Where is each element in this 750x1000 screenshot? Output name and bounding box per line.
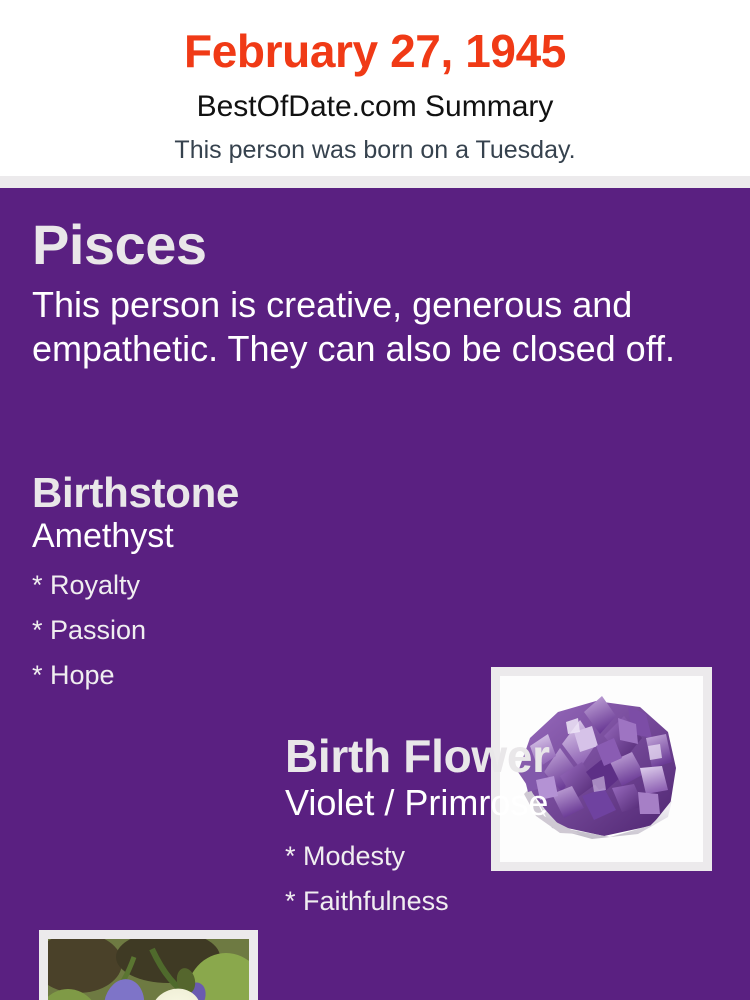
birthstone-section: Birthstone Amethyst * Royalty * Passion … bbox=[32, 471, 462, 698]
birthflower-photo-frame bbox=[39, 930, 258, 1000]
birthstone-heading: Birthstone bbox=[32, 471, 462, 515]
birthflower-trait-list: * Modesty * Faithfulness bbox=[285, 822, 725, 924]
header-divider bbox=[0, 176, 750, 188]
purple-content-panel: Pisces This person is creative, generous… bbox=[0, 188, 750, 1000]
birthflower-heading: Birth Flower bbox=[285, 733, 725, 781]
summary-page: February 27, 1945 BestOfDate.com Summary… bbox=[0, 0, 750, 1000]
page-title-date: February 27, 1945 bbox=[0, 0, 750, 74]
zodiac-sign-heading: Pisces bbox=[32, 216, 718, 273]
zodiac-section: Pisces This person is creative, generous… bbox=[32, 216, 718, 371]
site-name-subtitle: BestOfDate.com Summary bbox=[0, 74, 750, 122]
birthflower-name: Violet / Primrose bbox=[285, 781, 725, 823]
birthflower-photo bbox=[48, 939, 249, 1000]
birthflower-section: Birth Flower Violet / Primrose * Modesty… bbox=[285, 733, 725, 924]
list-item: * Royalty bbox=[32, 563, 462, 608]
zodiac-description: This person is creative, generous and em… bbox=[32, 273, 704, 371]
list-item: * Modesty bbox=[285, 834, 725, 879]
birthstone-trait-list: * Royalty * Passion * Hope bbox=[32, 555, 462, 698]
born-weekday-text: This person was born on a Tuesday. bbox=[0, 122, 750, 163]
list-item: * Passion bbox=[32, 608, 462, 653]
list-item: * Hope bbox=[32, 653, 462, 698]
violet-and-primrose-icon bbox=[48, 939, 249, 1000]
list-item: * Faithfulness bbox=[285, 879, 725, 924]
birthstone-name: Amethyst bbox=[32, 515, 462, 555]
page-header: February 27, 1945 BestOfDate.com Summary… bbox=[0, 0, 750, 176]
